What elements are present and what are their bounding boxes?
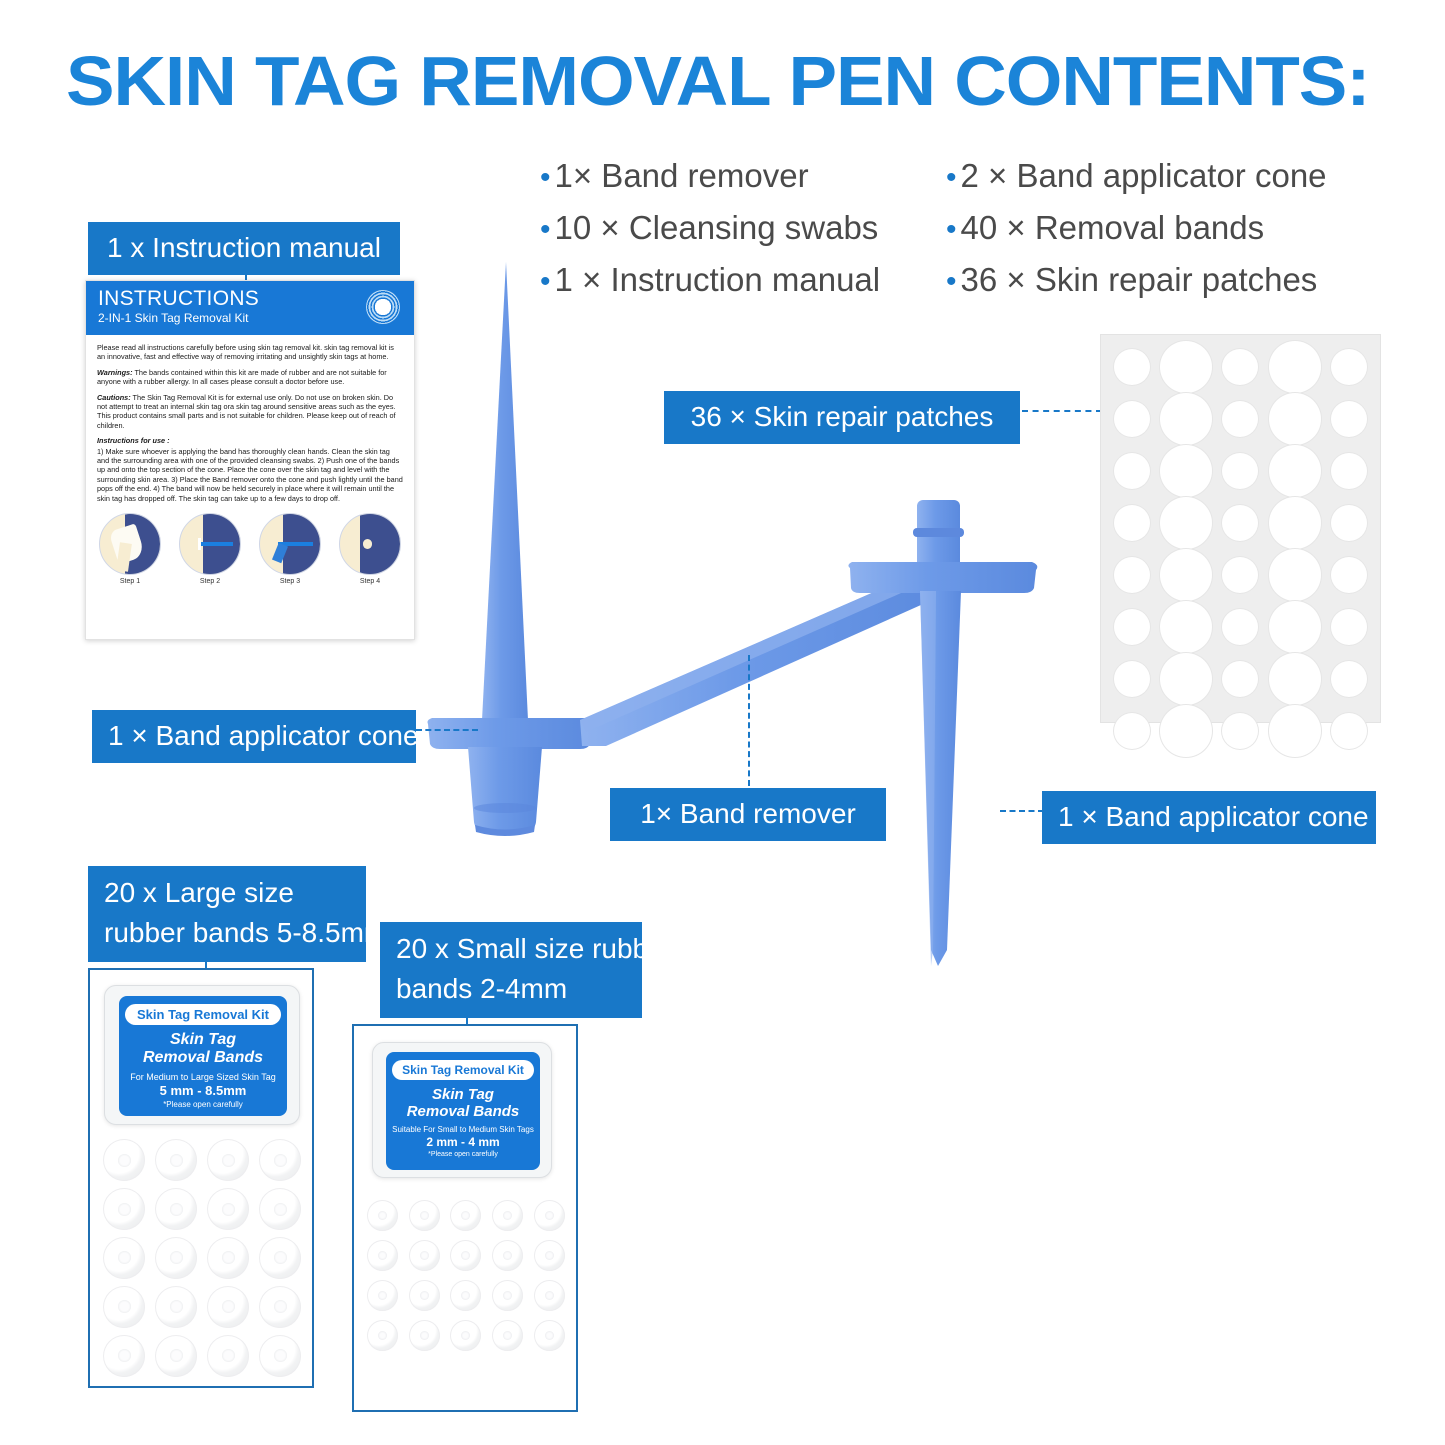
skin-repair-patch [1331,713,1367,749]
manual-warnings: Warnings: The bands contained within thi… [97,368,403,387]
large-bands-pill: Skin Tag Removal Kit [125,1004,281,1025]
small-bands-grid [362,1195,570,1395]
rubber-band-ring [409,1200,440,1231]
list-item-label: 1× Band remover [555,150,809,202]
rubber-band-ring [155,1286,197,1328]
rubber-band-ring [409,1240,440,1271]
band-applicator-cone-right [848,500,1037,966]
list-item: • 10 × Cleansing swabs [540,202,880,254]
skin-repair-patch [1222,453,1258,489]
rubber-band-ring [207,1139,249,1181]
skin-repair-patch [1222,557,1258,593]
list-item: • 40 × Removal bands [946,202,1327,254]
skin-repair-patch [1160,705,1212,757]
callout-band-remover: 1× Band remover [610,788,886,841]
large-bands-size: 5 mm - 8.5mm [119,1083,287,1098]
step-label: Step 3 [256,578,324,585]
skin-repair-patch [1269,549,1321,601]
rubber-band-ring [103,1335,145,1377]
manual-intro: Please read all instructions carefully b… [97,343,403,362]
large-bands-title1: Skin Tag [119,1031,287,1049]
manual-use-steps: 1) Make sure whoever is applying the ban… [97,447,403,503]
list-item-label: 40 × Removal bands [961,202,1265,254]
skin-repair-patch [1331,453,1367,489]
manual-subtitle: 2-IN-1 Skin Tag Removal Kit [98,311,402,326]
skin-repair-patch [1160,653,1212,705]
rubber-band-ring [534,1320,565,1351]
callout-large-bands-line1: 20 x Large size [104,873,350,913]
skin-repair-patch [1222,713,1258,749]
large-bands-note: *Please open carefully [119,1100,287,1109]
skin-repair-patch [1114,713,1150,749]
connector-remover [748,655,750,786]
small-bands-title1: Skin Tag [386,1086,540,1103]
connector-cone-right [1000,810,1044,812]
callout-small-bands-line1: 20 x Small size rubber [396,929,626,969]
manual-step: Step 4 [336,513,404,585]
skin-repair-patch [1331,349,1367,385]
callout-large-bands-line2: rubber bands 5-8.5mm [104,913,350,953]
rubber-band-ring [207,1335,249,1377]
small-bands-case-label: Skin Tag Removal Kit Skin Tag Removal Ba… [386,1052,540,1170]
skin-repair-patch [1269,393,1321,445]
bullet-dot-icon: • [946,163,957,193]
skin-repair-patch [1222,505,1258,541]
small-bands-title2: Removal Bands [386,1103,540,1120]
skin-repair-patch [1222,609,1258,645]
manual-header: INSTRUCTIONS 2-IN-1 Skin Tag Removal Kit [86,281,414,335]
instruction-manual-card: INSTRUCTIONS 2-IN-1 Skin Tag Removal Kit… [85,280,415,640]
rubber-band-ring [103,1139,145,1181]
callout-large-bands: 20 x Large size rubber bands 5-8.5mm [88,866,366,962]
manual-warnings-label: Warnings: [97,368,133,377]
rubber-band-ring [450,1320,481,1351]
rubber-band-ring [367,1280,398,1311]
rubber-band-ring [450,1240,481,1271]
rubber-band-ring [450,1200,481,1231]
rubber-band-ring [259,1237,301,1279]
manual-step: Step 2 [176,513,244,585]
rings-logo-icon [366,290,400,324]
manual-use-label: Instructions for use : [97,436,403,445]
manual-step: Step 1 [96,513,164,585]
skin-repair-patch [1114,401,1150,437]
rubber-band-ring [207,1188,249,1230]
rubber-band-ring [155,1139,197,1181]
large-bands-title2: Removal Bands [119,1049,287,1067]
skin-repair-patch [1331,661,1367,697]
manual-title: INSTRUCTIONS [98,287,402,310]
skin-repair-patch [1160,601,1212,653]
large-bands-case: Skin Tag Removal Kit Skin Tag Removal Ba… [104,985,300,1125]
bullet-dot-icon: • [540,163,551,193]
skin-repair-patch [1269,497,1321,549]
callout-band-applicator-cone-left: 1 × Band applicator cone [92,710,416,763]
bullet-dot-icon: • [540,215,551,245]
rubber-band-ring [492,1280,523,1311]
rubber-band-ring [367,1240,398,1271]
skin-repair-patch [1331,401,1367,437]
rubber-band-ring [450,1280,481,1311]
callout-band-applicator-cone-right: 1 × Band applicator cone [1042,791,1376,844]
list-item: • 1× Band remover [540,150,880,202]
connector-large-bands [205,946,207,968]
rubber-band-ring [409,1320,440,1351]
small-bands-desc: Suitable For Small to Medium Skin Tags [386,1125,540,1134]
callout-small-bands-line2: bands 2-4mm [396,969,626,1009]
manual-cautions-text: The Skin Tag Removal Kit is for external… [97,393,396,430]
manual-warnings-text: The bands contained within this kit are … [97,368,387,386]
rubber-band-ring [259,1335,301,1377]
rubber-band-ring [207,1286,249,1328]
skin-repair-patch [1222,349,1258,385]
manual-cautions-label: Cautions: [97,393,131,402]
skin-repair-patch [1269,601,1321,653]
connector-patches [1022,410,1102,412]
step-2-illustration [179,513,241,575]
callout-small-bands: 20 x Small size rubber bands 2-4mm [380,922,642,1018]
small-bands-pill: Skin Tag Removal Kit [392,1060,534,1080]
connector-manual [245,261,247,281]
skin-repair-patch [1331,505,1367,541]
skin-repair-patch [1331,557,1367,593]
manual-step: Step 3 [256,513,324,585]
rubber-band-ring [534,1240,565,1271]
rubber-band-ring [207,1237,249,1279]
step-label: Step 4 [336,578,404,585]
skin-repair-patch [1269,445,1321,497]
rubber-band-ring [492,1200,523,1231]
rubber-band-ring [155,1188,197,1230]
list-item-label: 2 × Band applicator cone [961,150,1327,202]
skin-repair-patch [1160,341,1212,393]
manual-step-illustrations: Step 1 Step 2 Step 3 Step 4 [86,509,414,585]
step-label: Step 1 [96,578,164,585]
skin-repair-patch [1114,661,1150,697]
skin-repair-patch [1160,549,1212,601]
band-remover [580,572,950,746]
rubber-band-ring [259,1188,301,1230]
rubber-band-ring [103,1188,145,1230]
skin-repair-patch [1160,393,1212,445]
rubber-band-ring [367,1320,398,1351]
skin-repair-patch [1114,557,1150,593]
skin-repair-patch [1222,661,1258,697]
list-item: • 2 × Band applicator cone [946,150,1327,202]
list-item-label: 10 × Cleansing swabs [555,202,879,254]
skin-repair-patch [1269,341,1321,393]
large-bands-grid [98,1136,306,1380]
connector-small-bands [466,1002,468,1024]
manual-body: Please read all instructions carefully b… [86,335,414,503]
skin-repair-patch-sheet [1100,334,1381,723]
step-3-illustration [259,513,321,575]
rubber-band-ring [367,1200,398,1231]
bullet-dot-icon: • [946,215,957,245]
large-bands-desc: For Medium to Large Sized Skin Tag [119,1072,287,1082]
skin-repair-patch [1331,609,1367,645]
callout-instruction-manual: 1 x Instruction manual [88,222,400,275]
rubber-band-ring [409,1280,440,1311]
skin-repair-patch [1160,497,1212,549]
skin-repair-patch [1222,401,1258,437]
rubber-band-ring [103,1286,145,1328]
rubber-band-ring [259,1139,301,1181]
skin-repair-patch [1114,609,1150,645]
callout-skin-repair-patches: 36 × Skin repair patches [664,391,1020,444]
rubber-band-ring [534,1280,565,1311]
rubber-band-ring [155,1237,197,1279]
skin-repair-patch [1114,453,1150,489]
rubber-band-ring [103,1237,145,1279]
band-applicator-cone-left [428,262,593,836]
step-4-illustration [339,513,401,575]
page-title: SKIN TAG REMOVAL PEN CONTENTS: [66,46,1445,117]
skin-repair-patch [1114,505,1150,541]
connector-cone-left [416,729,478,731]
step-1-illustration [99,513,161,575]
skin-repair-patch [1269,653,1321,705]
skin-repair-patch [1269,705,1321,757]
rubber-band-ring [259,1286,301,1328]
small-bands-size: 2 mm - 4 mm [386,1135,540,1149]
rubber-band-ring [492,1320,523,1351]
small-bands-note: *Please open carefully [386,1151,540,1158]
applicator-device-illustration [420,250,1080,990]
skin-repair-patch [1160,445,1212,497]
rubber-band-ring [492,1240,523,1271]
manual-cautions: Cautions: The Skin Tag Removal Kit is fo… [97,393,403,431]
step-label: Step 2 [176,578,244,585]
large-bands-case-label: Skin Tag Removal Kit Skin Tag Removal Ba… [119,996,287,1116]
skin-repair-patch [1114,349,1150,385]
small-bands-case: Skin Tag Removal Kit Skin Tag Removal Ba… [372,1042,552,1178]
rubber-band-ring [534,1200,565,1231]
rubber-band-ring [155,1335,197,1377]
